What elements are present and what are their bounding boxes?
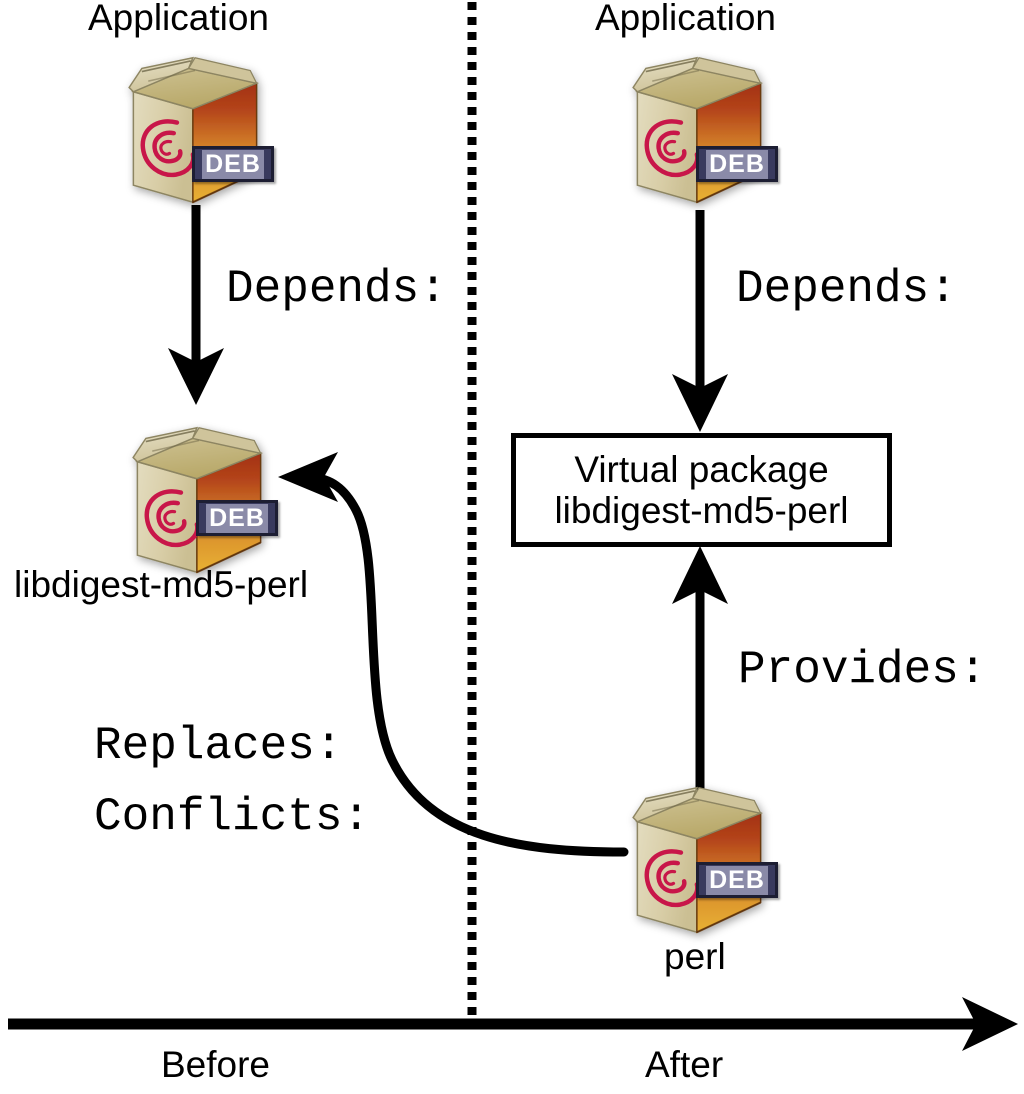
deb-badge-application-before: DEB	[192, 146, 274, 182]
timeline-label-before: Before	[161, 1046, 270, 1085]
deb-package-icon-perl	[633, 788, 761, 933]
deb-badge-text: DEB	[706, 150, 768, 179]
virtual-package-box: Virtual package libdigest-md5-perl	[511, 433, 892, 547]
deb-badge-application-after: DEB	[696, 146, 778, 182]
debian-virtual-package-diagram: DEB DEB DEB DEB Application Depends: lib…	[0, 0, 1024, 1094]
label-conflicts: Conflicts:	[94, 793, 370, 843]
deb-badge-text: DEB	[206, 504, 268, 533]
label-application-after: Application	[595, 0, 776, 38]
arrow-provides	[672, 546, 728, 790]
timeline-label-after: After	[645, 1046, 723, 1085]
deb-badge-libdigest-md5-perl: DEB	[196, 500, 278, 536]
label-depends-after: Depends:	[736, 265, 957, 315]
virtual-package-line1: Virtual package	[574, 449, 828, 490]
deb-badge-text: DEB	[706, 866, 768, 895]
label-provides: Provides:	[738, 646, 986, 696]
timeline-axis	[8, 997, 1018, 1051]
label-perl: perl	[664, 938, 726, 977]
deb-badge-text: DEB	[202, 150, 264, 179]
label-replaces: Replaces:	[94, 722, 342, 772]
label-depends-before: Depends:	[226, 265, 447, 315]
arrow-depends-after	[672, 210, 728, 432]
label-application-before: Application	[88, 0, 269, 38]
arrow-depends-before	[168, 205, 224, 405]
label-libdigest-md5-perl: libdigest-md5-perl	[14, 566, 308, 605]
diagram-vector-layer	[0, 0, 1024, 1094]
deb-badge-perl: DEB	[696, 862, 778, 898]
virtual-package-line2: libdigest-md5-perl	[554, 490, 848, 531]
